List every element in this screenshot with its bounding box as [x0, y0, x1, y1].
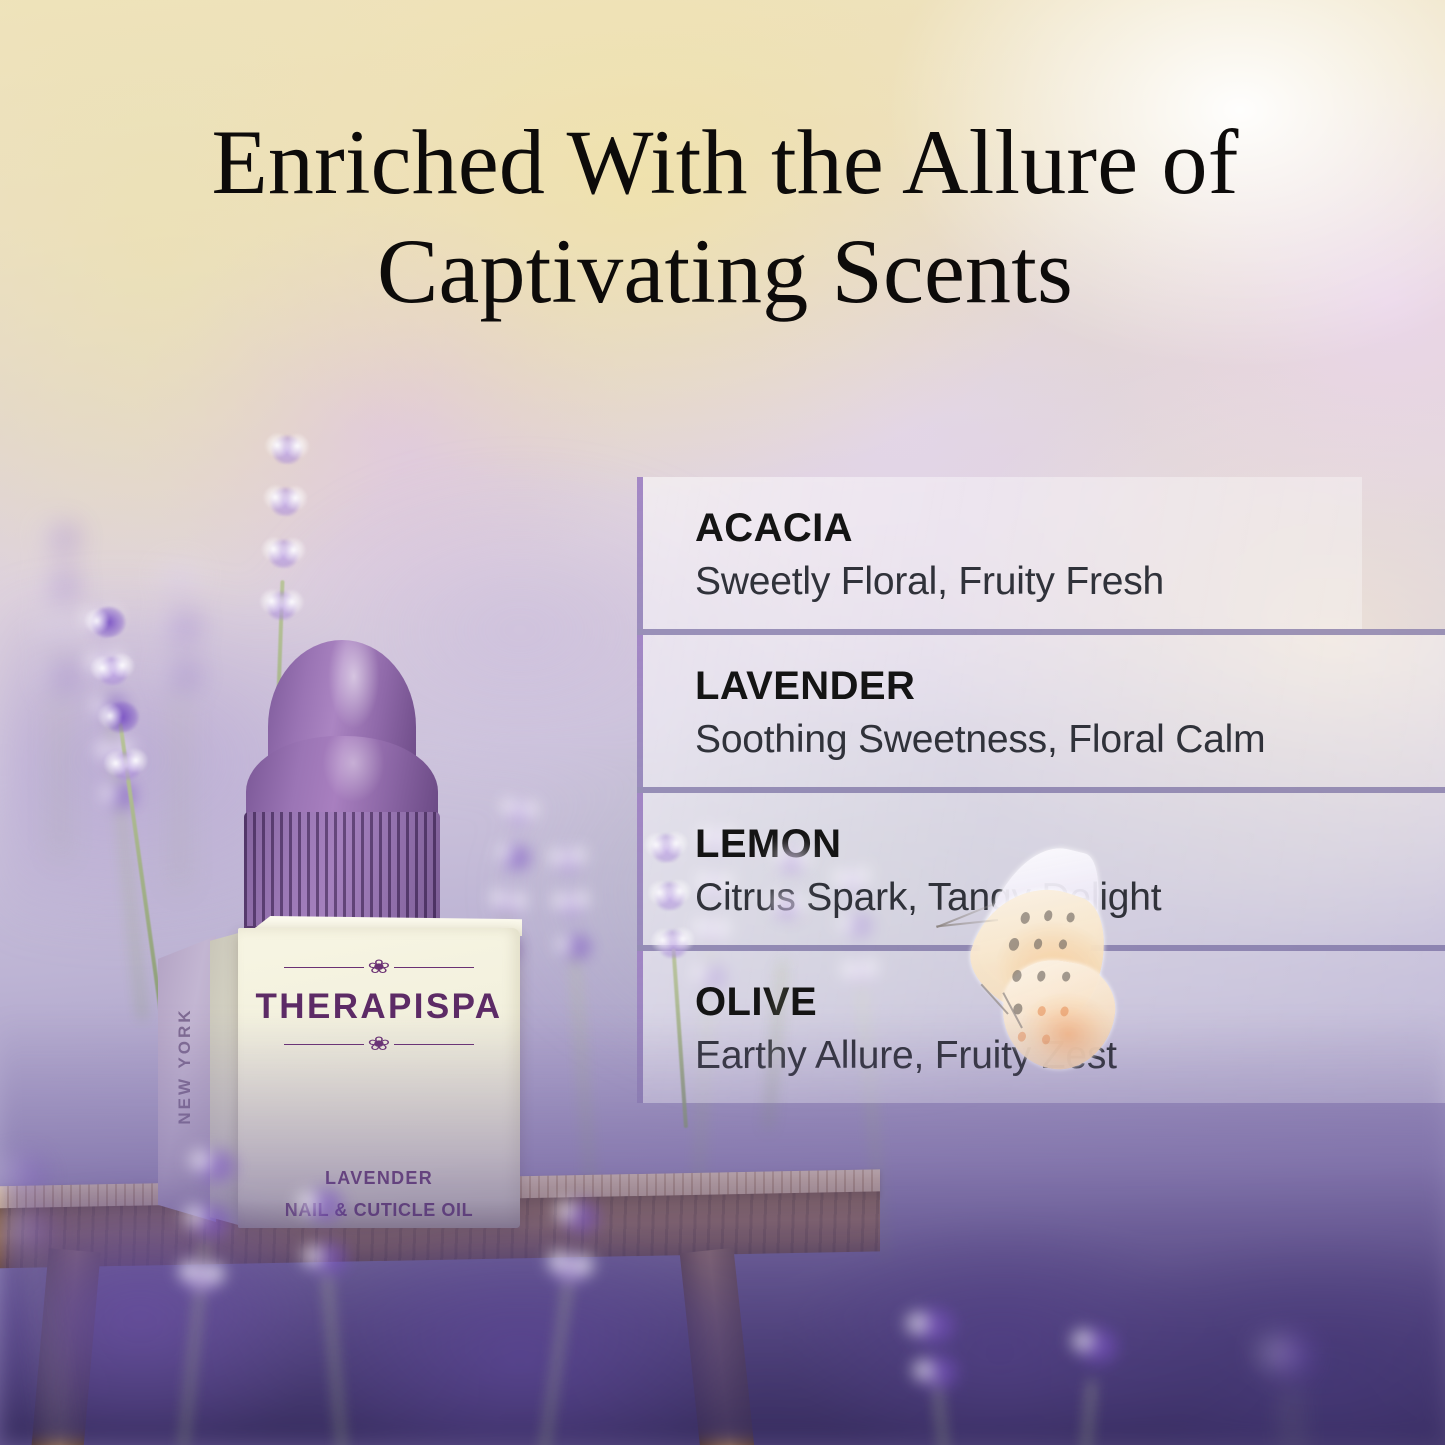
label-rule	[394, 967, 474, 969]
label-rule	[284, 967, 364, 969]
headline-line-2: Captivating Scents	[90, 217, 1360, 326]
bottle-cap-ribbed-ring	[244, 812, 440, 930]
lavender-sprig-foreground	[1241, 1327, 1340, 1445]
scent-item-lavender[interactable]: LAVENDER Soothing Sweetness, Floral Calm	[637, 629, 1445, 787]
scent-description: Sweetly Floral, Fruity Fresh	[695, 561, 1362, 603]
flourish-icon: ❀	[367, 958, 390, 977]
scent-description: Soothing Sweetness, Floral Calm	[695, 719, 1445, 761]
headline-line-1: Enriched With the Allure of	[90, 108, 1360, 217]
scent-name: LAVENDER	[695, 665, 1445, 707]
lavender-sprig-foreground	[1040, 1317, 1142, 1445]
scent-name: ACACIA	[695, 507, 1362, 549]
lavender-sprig-foreground	[884, 1296, 990, 1445]
label-ornament-top: ❀	[284, 958, 474, 977]
headline: Enriched With the Allure of Captivating …	[90, 108, 1360, 327]
product-marketing-image: NEW YORK ❀ THERAPISPA ❀ LAVENDER NAIL & …	[0, 0, 1445, 1445]
scent-item-acacia[interactable]: ACACIA Sweetly Floral, Fruity Fresh	[637, 477, 1362, 629]
